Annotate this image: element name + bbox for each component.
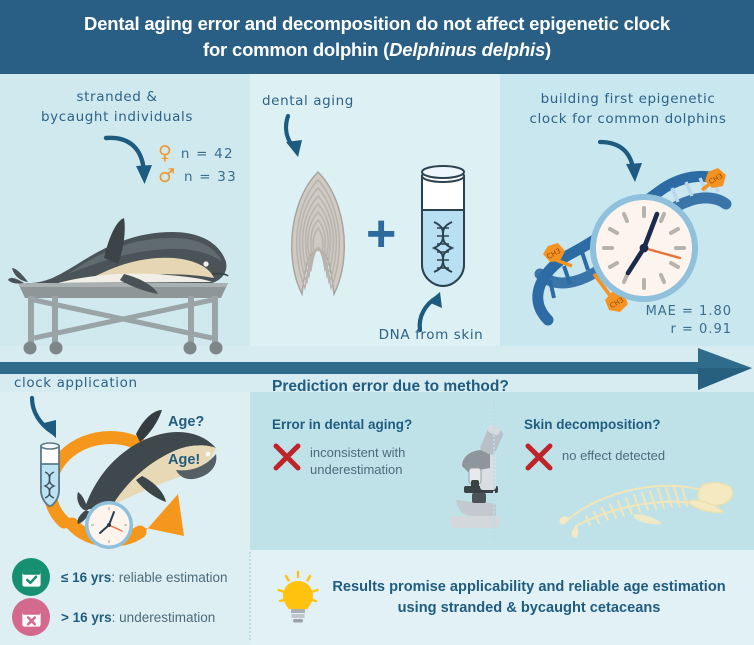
- prediction-error-heading: Prediction error due to method?: [272, 378, 509, 396]
- dental-aging-arrow-icon: [280, 112, 324, 168]
- clock-label-line2: clock for common dolphins: [530, 111, 727, 127]
- sampling-label-line1: stranded &: [77, 89, 158, 105]
- dental-error-result-line2: underestimation: [310, 462, 403, 477]
- title-line-2-suffix: ): [545, 39, 551, 60]
- badge-reliable: ≤ 16 yrs: reliable estimation: [12, 558, 228, 596]
- microscope-icon: [440, 424, 510, 534]
- dna-clock-figure: CH3 CH3 CH3: [520, 148, 738, 330]
- stat-correlation: r = 0.91: [624, 322, 732, 337]
- small-test-tube-icon: [34, 438, 66, 510]
- title-line-1: Dental aging error and decomposition do …: [84, 13, 670, 34]
- calendar-check-icon: [12, 558, 50, 596]
- male-count: n = 33: [184, 169, 237, 185]
- question-divider: [493, 400, 495, 540]
- calendar-x-icon: [12, 598, 50, 636]
- decomposition-result: no effect detected: [562, 447, 722, 464]
- female-count: n = 42: [181, 146, 234, 162]
- species-name: Delphinus delphis: [389, 39, 545, 60]
- male-symbol-icon: ♂: [158, 167, 175, 186]
- male-count-row: ♂ n = 33: [158, 167, 237, 186]
- dolphin-on-table-figure: [6, 188, 244, 343]
- results-line2: using stranded & bycaught cetaceans: [398, 600, 661, 616]
- results-text: Results promise applicability and reliab…: [332, 577, 725, 618]
- badge-underestimation-text: > 16 yrs: underestimation: [61, 610, 215, 625]
- badge-reliable-text: ≤ 16 yrs: reliable estimation: [61, 570, 228, 585]
- test-tube-dna-icon: [412, 164, 474, 292]
- dental-error-subheading: Error in dental aging?: [272, 417, 412, 432]
- sampling-label: stranded & bycaught individuals: [22, 88, 212, 127]
- age-answer-label: Age!: [168, 452, 200, 468]
- results-line1: Results promise applicability and reliab…: [332, 579, 725, 595]
- badge-reliable-desc: : reliable estimation: [111, 570, 227, 585]
- red-x-icon: [272, 442, 302, 472]
- badge-underestimation-desc: : underestimation: [112, 610, 216, 625]
- dna-source-label: DNA from skin: [356, 326, 506, 346]
- age-question-label: Age?: [168, 414, 204, 430]
- sampling-arrow-icon: [100, 132, 162, 194]
- page-title: Dental aging error and decomposition do …: [58, 11, 696, 64]
- title-line-2-prefix: for common dolphin (: [203, 39, 389, 60]
- clock-building-label: building first epigenetic clock for comm…: [512, 90, 744, 129]
- results-banner: Results promise applicability and reliab…: [250, 550, 754, 645]
- red-x-icon: [524, 442, 554, 472]
- lightbulb-icon: [278, 571, 318, 625]
- clock-label-line1: building first epigenetic: [541, 91, 716, 107]
- female-count-row: ♀ n = 42: [158, 144, 234, 163]
- badge-reliable-range: ≤ 16 yrs: [61, 570, 111, 585]
- title-banner: Dental aging error and decomposition do …: [0, 0, 754, 74]
- female-symbol-icon: ♀: [158, 144, 172, 163]
- stat-mae: MAE = 1.80: [624, 304, 732, 319]
- graphical-abstract: Dental aging error and decomposition do …: [0, 0, 754, 645]
- dental-aging-label: dental aging: [262, 92, 392, 112]
- badge-underestimation: > 16 yrs: underestimation: [12, 598, 215, 636]
- dolphin-skeleton-icon: [556, 470, 736, 540]
- decomposition-subheading: Skin decomposition?: [524, 417, 661, 432]
- dental-error-result: inconsistent with underestimation: [310, 444, 440, 478]
- dental-error-result-line1: inconsistent with: [310, 445, 405, 460]
- small-clock-icon: [82, 498, 136, 552]
- tooth-figure-icon: [282, 168, 354, 298]
- clock-application-label: clock application: [14, 374, 164, 394]
- sampling-label-line2: bycaught individuals: [41, 109, 193, 125]
- plus-symbol: +: [366, 208, 396, 260]
- badge-underestimation-range: > 16 yrs: [61, 610, 112, 625]
